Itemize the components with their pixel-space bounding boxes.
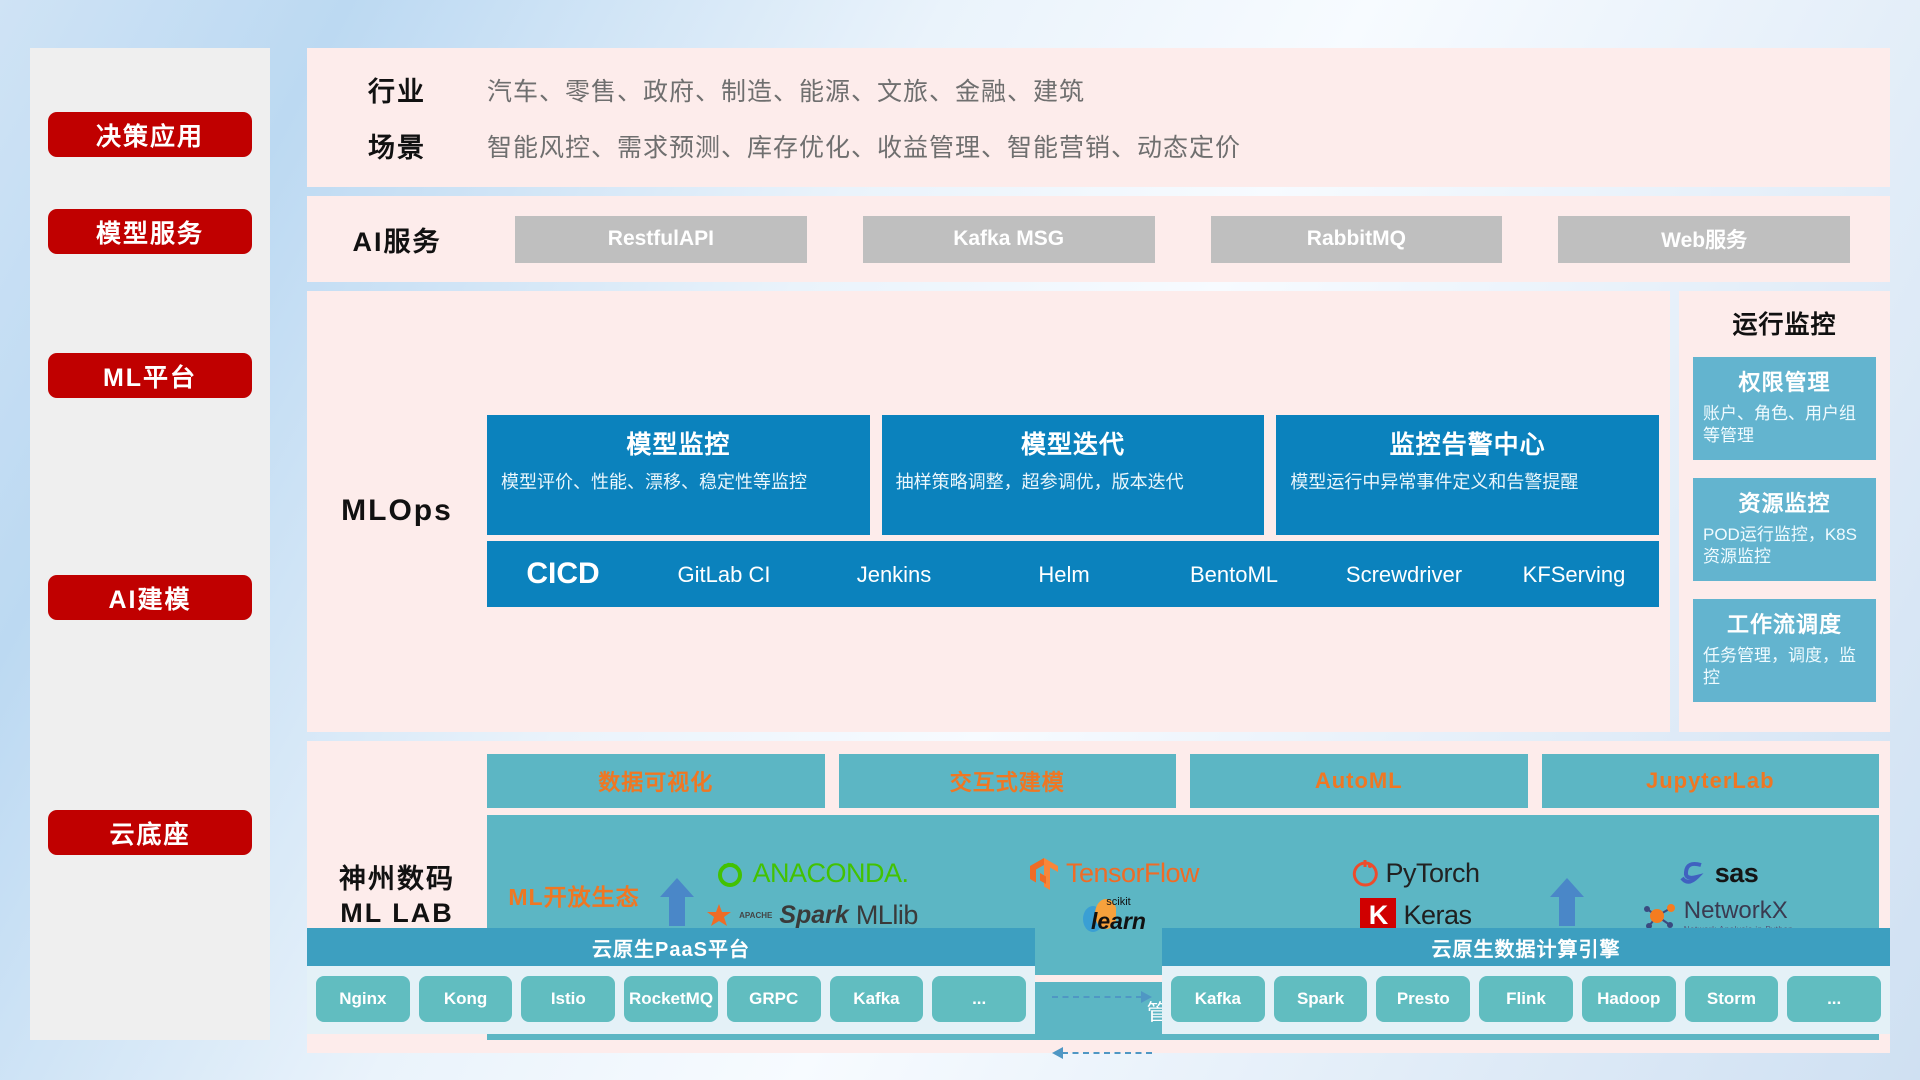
- runtime-monitor-title: 运行监控: [1693, 305, 1876, 341]
- flow-arrow-right-icon: [1052, 996, 1152, 998]
- rail-item-model-service[interactable]: 模型服务: [48, 209, 252, 254]
- flow-arrow-left-icon: [1052, 1052, 1152, 1054]
- service-chip-web[interactable]: Web服务: [1558, 216, 1850, 263]
- rail-item-ml-platform[interactable]: ML平台: [48, 353, 252, 398]
- paas-chip-nginx[interactable]: Nginx: [316, 976, 410, 1022]
- ml-lab-tab-list: 数据可视化 交互式建模 AutoML JupyterLab: [487, 754, 1879, 808]
- industry-label: 行业: [307, 70, 487, 109]
- paas-chip-list: Nginx Kong Istio RocketMQ GRPC Kafka ...: [307, 966, 1035, 1034]
- paas-panel: 云原生PaaS平台 Nginx Kong Istio RocketMQ GRPC…: [307, 928, 1035, 1034]
- data-engine-panel: 云原生数据计算引擎 Kafka Spark Presto Flink Hadoo…: [1162, 928, 1890, 1034]
- service-chip-restfulapi[interactable]: RestfulAPI: [515, 216, 807, 263]
- mlops-card-alert-center[interactable]: 监控告警中心 模型运行中异常事件定义和告警提醒: [1276, 415, 1659, 535]
- cicd-item-bentoml[interactable]: BentoML: [1149, 562, 1319, 587]
- engine-chip-flink[interactable]: Flink: [1479, 976, 1573, 1022]
- cicd-item-screwdriver[interactable]: Screwdriver: [1319, 562, 1489, 587]
- data-engine-chip-list: Kafka Spark Presto Flink Hadoop Storm ..…: [1162, 966, 1890, 1034]
- industry-scenario-band: 行业 汽车、零售、政府、制造、能源、文旅、金融、建筑 场景 智能风控、需求预测、…: [307, 48, 1890, 187]
- scenario-values: 智能风控、需求预测、库存优化、收益管理、智能营销、动态定价: [487, 128, 1241, 164]
- ai-service-list: RestfulAPI Kafka MSG RabbitMQ Web服务: [487, 216, 1890, 263]
- paas-chip-kafka[interactable]: Kafka: [830, 976, 924, 1022]
- rail-item-cloud-base[interactable]: 云底座: [48, 810, 252, 855]
- engine-chip-more[interactable]: ...: [1787, 976, 1881, 1022]
- service-chip-kafka-msg[interactable]: Kafka MSG: [863, 216, 1155, 263]
- mlops-card-desc: 模型评价、性能、漂移、稳定性等监控: [501, 470, 856, 494]
- mlops-card-list: 模型监控 模型评价、性能、漂移、稳定性等监控 模型迭代 抽样策略调整，超参调优，…: [487, 415, 1659, 535]
- monitor-card-workflow[interactable]: 工作流调度 任务管理，调度，监控: [1693, 599, 1876, 702]
- mlops-band: MLOps 模型监控 模型评价、性能、漂移、稳定性等监控 模型迭代 抽样策略调整…: [307, 291, 1670, 732]
- rail-item-decision-app[interactable]: 决策应用: [48, 112, 252, 157]
- cicd-item-jenkins[interactable]: Jenkins: [809, 562, 979, 587]
- monitor-card-desc: 账户、角色、用户组等管理: [1703, 403, 1866, 448]
- mlops-card-model-monitoring[interactable]: 模型监控 模型评价、性能、漂移、稳定性等监控: [487, 415, 870, 535]
- engine-chip-hadoop[interactable]: Hadoop: [1582, 976, 1676, 1022]
- ai-service-label: AI服务: [307, 220, 487, 259]
- engine-chip-storm[interactable]: Storm: [1685, 976, 1779, 1022]
- mlops-card-model-iteration[interactable]: 模型迭代 抽样策略调整，超参调优，版本迭代: [882, 415, 1265, 535]
- arrow-up-engine-icon: [1550, 878, 1584, 926]
- lab-tab-automl[interactable]: AutoML: [1190, 754, 1528, 808]
- monitor-card-desc: POD运行监控，K8S资源监控: [1703, 524, 1866, 569]
- rail-item-ai-modeling[interactable]: AI建模: [48, 575, 252, 620]
- cicd-item-gitlab-ci[interactable]: GitLab CI: [639, 562, 809, 587]
- lab-tab-jupyterlab[interactable]: JupyterLab: [1542, 754, 1880, 808]
- scenario-row: 场景 智能风控、需求预测、库存优化、收益管理、智能营销、动态定价: [307, 126, 1890, 165]
- lab-tab-interactive-modeling[interactable]: 交互式建模: [839, 754, 1177, 808]
- service-chip-rabbitmq[interactable]: RabbitMQ: [1211, 216, 1503, 263]
- paas-chip-istio[interactable]: Istio: [521, 976, 615, 1022]
- mlops-card-desc: 模型运行中异常事件定义和告警提醒: [1290, 470, 1645, 494]
- scenario-label: 场景: [307, 126, 487, 165]
- cicd-item-kfserving[interactable]: KFServing: [1489, 562, 1659, 587]
- lab-tab-data-visualization[interactable]: 数据可视化: [487, 754, 825, 808]
- industry-values: 汽车、零售、政府、制造、能源、文旅、金融、建筑: [487, 72, 1085, 108]
- mlops-stack: 模型监控 模型评价、性能、漂移、稳定性等监控 模型迭代 抽样策略调整，超参调优，…: [487, 415, 1670, 607]
- monitor-card-resource[interactable]: 资源监控 POD运行监控，K8S资源监控: [1693, 478, 1876, 581]
- paas-chip-rocketmq[interactable]: RocketMQ: [624, 976, 718, 1022]
- mlops-card-title: 模型迭代: [896, 425, 1251, 461]
- mlops-and-monitor-row: MLOps 模型监控 模型评价、性能、漂移、稳定性等监控 模型迭代 抽样策略调整…: [307, 291, 1890, 732]
- runtime-monitor-column: 运行监控 权限管理 账户、角色、用户组等管理 资源监控 POD运行监控，K8S资…: [1679, 291, 1890, 732]
- cicd-title: CICD: [487, 557, 639, 591]
- monitor-card-title: 权限管理: [1703, 365, 1866, 397]
- monitor-card-title: 工作流调度: [1703, 607, 1866, 639]
- cicd-bar: CICD GitLab CI Jenkins Helm BentoML Scre…: [487, 541, 1659, 607]
- cloud-foundation-row: 云原生PaaS平台 Nginx Kong Istio RocketMQ GRPC…: [307, 880, 1890, 1040]
- engine-chip-spark[interactable]: Spark: [1274, 976, 1368, 1022]
- paas-title: 云原生PaaS平台: [307, 928, 1035, 966]
- industry-row: 行业 汽车、零售、政府、制造、能源、文旅、金融、建筑: [307, 70, 1890, 109]
- ai-service-band: AI服务 RestfulAPI Kafka MSG RabbitMQ Web服务: [307, 196, 1890, 282]
- engine-chip-presto[interactable]: Presto: [1376, 976, 1470, 1022]
- mlops-card-title: 监控告警中心: [1290, 425, 1645, 461]
- monitor-card-title: 资源监控: [1703, 486, 1866, 518]
- data-engine-title: 云原生数据计算引擎: [1162, 928, 1890, 966]
- arrow-up-paas-icon: [660, 878, 694, 926]
- mlops-card-title: 模型监控: [501, 425, 856, 461]
- cicd-item-helm[interactable]: Helm: [979, 562, 1149, 587]
- mlops-card-desc: 抽样策略调整，超参调优，版本迭代: [896, 470, 1251, 494]
- paas-chip-kong[interactable]: Kong: [419, 976, 513, 1022]
- mlops-label: MLOps: [307, 494, 487, 528]
- paas-chip-more[interactable]: ...: [932, 976, 1026, 1022]
- monitor-card-desc: 任务管理，调度，监控: [1703, 645, 1866, 690]
- paas-chip-grpc[interactable]: GRPC: [727, 976, 821, 1022]
- engine-chip-kafka[interactable]: Kafka: [1171, 976, 1265, 1022]
- left-rail: 决策应用 模型服务 ML平台 AI建模 云底座: [30, 48, 270, 1040]
- monitor-card-permission[interactable]: 权限管理 账户、角色、用户组等管理: [1693, 357, 1876, 460]
